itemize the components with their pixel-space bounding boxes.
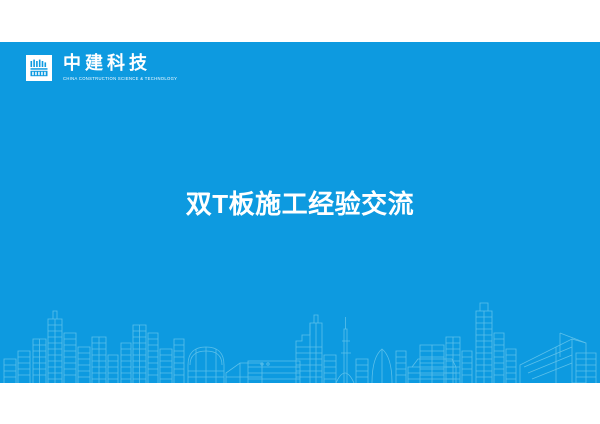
title-slide: 中建科技 CHINA CONSTRUCTION SCIENCE & TECHNO… [0,0,600,424]
company-logo: 中建科技 CHINA CONSTRUCTION SCIENCE & TECHNO… [26,54,175,82]
company-emblem-icon [26,55,52,81]
logo-text-block: 中建科技 CHINA CONSTRUCTION SCIENCE & TECHNO… [63,54,175,82]
page-title: 双T板施工经验交流 [186,189,414,219]
company-name-cn: 中建科技 [63,54,175,73]
city-skyline-outline-icon [0,293,600,383]
company-name-en: CHINA CONSTRUCTION SCIENCE & TECHNOLOGY [63,75,177,82]
slide-background-panel: 中建科技 CHINA CONSTRUCTION SCIENCE & TECHNO… [0,42,600,383]
